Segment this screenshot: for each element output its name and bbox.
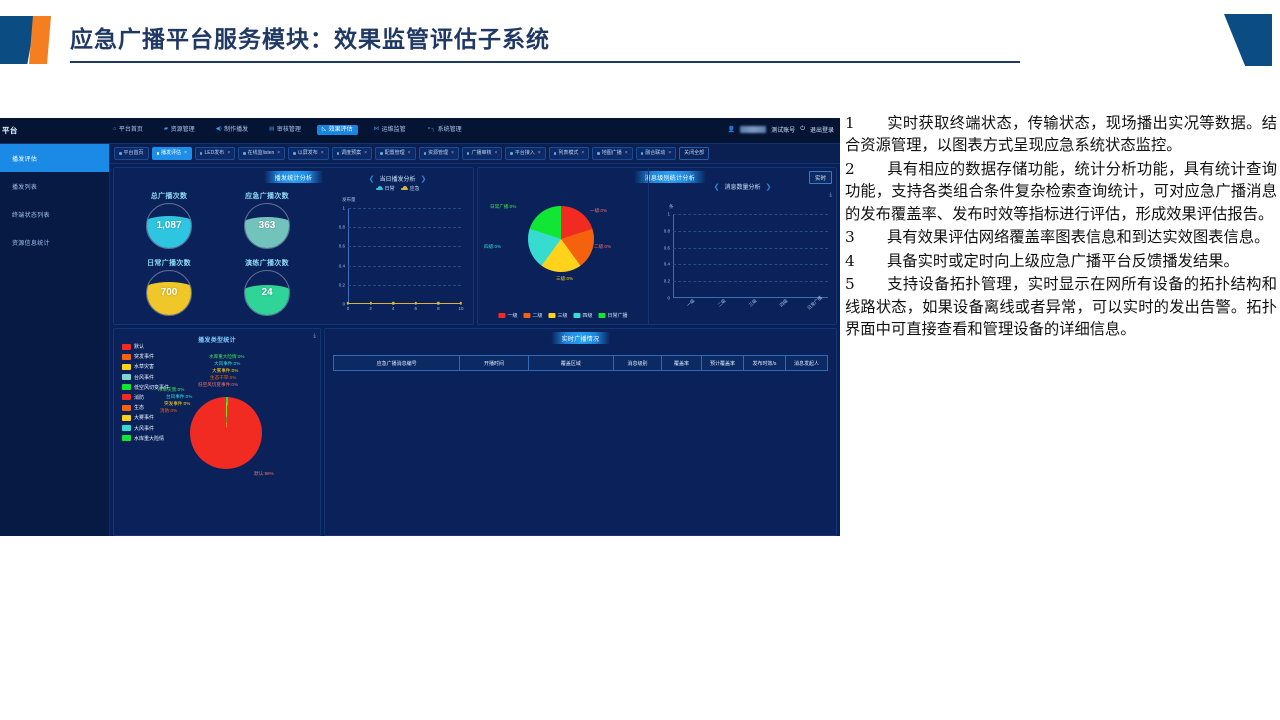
y-tick: 0.6 xyxy=(664,245,670,250)
tab-fusion-linkage[interactable]: 融合联动× xyxy=(636,147,676,160)
chevron-left-icon: ❮ xyxy=(369,175,375,183)
tab-dot-icon xyxy=(243,152,246,155)
top-navbar: 平台 ⌂平台首页 ▰资源管理 ◀)制作播发 ▤审核管理 ◺效果评估 ⋈运维监管 … xyxy=(0,118,840,144)
power-icon[interactable]: ⏻ xyxy=(800,126,805,133)
chevron-right-icon: ❯ xyxy=(421,175,427,183)
note-number: 4 xyxy=(845,250,887,272)
tab-config-manage[interactable]: 配置管理× xyxy=(375,147,415,160)
pie-label-emergency: 突发事件:0% xyxy=(164,401,190,407)
note-number: 2 xyxy=(845,158,887,180)
gauge-label: 日常广播次数 xyxy=(147,258,191,268)
nav-item-home[interactable]: ⌂平台首页 xyxy=(108,125,148,135)
legend-item-reservoir-danger[interactable]: 水库重大险情 xyxy=(122,435,169,442)
gauge-card-total: 总广播次数 1,087 xyxy=(120,186,218,253)
y-tick: 0.2 xyxy=(339,282,345,287)
tab-resource-manage[interactable]: 资源管理× xyxy=(419,147,459,160)
note-number: 5 xyxy=(845,273,887,295)
y-tick: 0.8 xyxy=(339,225,345,230)
home-icon: ⌂ xyxy=(113,127,116,133)
y-tick: 0.4 xyxy=(664,262,670,267)
panel-title: 播发类型统计 xyxy=(187,333,247,345)
gauge-label: 总广播次数 xyxy=(151,191,188,201)
content-row-bottom: 播发类型统计 ⤓ 默认 突发事件 水草灾害 台风事件 低空风切变事件 消防 生态… xyxy=(113,328,837,536)
series-emergency xyxy=(348,303,461,304)
tab-broadcast-evaluation[interactable]: 播发评估× xyxy=(152,147,192,160)
table-header-cell: 预计覆盖率 xyxy=(701,355,743,371)
pie-label-waterweed: 水草灾害:0% xyxy=(158,387,184,393)
legend-item-level2[interactable]: 二级 xyxy=(523,312,542,319)
nav-item-produce[interactable]: ◀)制作播发 xyxy=(211,125,254,135)
panel-message-level-statistics: 消息级别统计分析 实时 一级:0% 二级:0% 三级:0% 四级:0% 日常广播… xyxy=(477,167,837,325)
legend-item-wind-event[interactable]: 大风事件 xyxy=(122,425,169,432)
y-tick: 0.6 xyxy=(339,244,345,249)
sidebar-item-broadcast-list[interactable]: 播发列表 xyxy=(0,172,109,200)
note-item: 1实时获取终端状态，传输状态，现场播出实况等数据。结合资源管理，以图表方式呈现应… xyxy=(845,112,1277,157)
tab-home[interactable]: 平台首页 xyxy=(114,147,149,160)
user-area: 👤 测试账号 ⏻ 退出登录 xyxy=(728,125,834,134)
nav-label: 平台首页 xyxy=(119,127,143,133)
nav-label: 系统管理 xyxy=(438,127,462,133)
chart-message-level-pie: 一级:0% 二级:0% 三级:0% 四级:0% 日常广播:0% 一级 二级 三级… xyxy=(478,168,648,324)
user-icon: 👤 xyxy=(728,126,735,133)
folder-icon: ▰ xyxy=(164,127,168,133)
nav-item-evaluation[interactable]: ◺效果评估 xyxy=(317,125,358,135)
pie-label-level4: 四级:0% xyxy=(484,244,501,250)
panel-broadcast-statistics: 播发统计分析 总广播次数 1,087 应急广播次数 xyxy=(113,167,474,325)
x-tick: 4 xyxy=(392,306,395,311)
sidebar-item-resource-info-stats[interactable]: 资源信息统计 xyxy=(0,228,109,256)
legend-item-waterweed-disaster[interactable]: 水草灾害 xyxy=(122,363,169,370)
tab-dot-icon xyxy=(337,152,340,155)
realtime-broadcast-table: 应急广播消息编号 开播时间 覆盖区域 消息级别 覆盖率 预计覆盖率 发布时效/s… xyxy=(333,355,828,371)
plot-area-daily: 0 0.2 0.4 0.6 0.8 1 0 2 4 6 8 10 xyxy=(348,208,461,304)
key-icon: ⚬┐ xyxy=(427,127,436,133)
monitor-icon: ⋈ xyxy=(374,127,380,133)
pie-label-level2: 二级:0% xyxy=(594,244,611,250)
x-tick: 6 xyxy=(415,306,418,311)
pie-legend: 一级 二级 三级 四级 日常广播 xyxy=(498,312,627,319)
close-icon[interactable]: × xyxy=(581,151,584,156)
nav-item-operation[interactable]: ⋈运维监管 xyxy=(369,125,411,135)
sidebar-item-broadcast-evaluation[interactable]: 播发评估 xyxy=(0,144,109,172)
gauge-value: 24 xyxy=(261,287,272,298)
gauge-total-broadcasts: 1,087 xyxy=(146,203,192,249)
nav-item-system[interactable]: ⚬┐系统管理 xyxy=(422,125,467,135)
download-icon[interactable]: ⤓ xyxy=(829,192,832,199)
tab-strip: 平台首页 播发评估× LED发布× 在线监listen× 以屏发布× 调度预案×… xyxy=(110,144,840,164)
table-header-cell: 覆盖区域 xyxy=(528,355,613,371)
nav-label: 效果评估 xyxy=(329,127,353,133)
chart-legend: 日常 应急 xyxy=(375,185,419,192)
logout-button[interactable]: 退出登录 xyxy=(810,125,834,134)
x-tick: 三级 xyxy=(747,298,758,308)
chart-subtitle: ❮ 当日播发分析 ❯ xyxy=(369,174,427,183)
table-header-cell: 消息发起人 xyxy=(785,355,828,371)
tab-map-broadcast[interactable]: 地图广播× xyxy=(592,147,632,160)
gauge-daily-broadcasts: 700 xyxy=(146,270,192,316)
x-tick: 2 xyxy=(369,306,372,311)
tab-dot-icon xyxy=(119,152,122,155)
table-header-cell: 开播时间 xyxy=(459,355,528,371)
pie-label-daily: 日常广播:0% xyxy=(490,204,516,210)
x-axis xyxy=(673,297,828,298)
legend-item-level1[interactable]: 一级 xyxy=(498,312,517,319)
pie-wrapper: 一级:0% 二级:0% 三级:0% 四级:0% 日常广播:0% 一级 二级 三级… xyxy=(478,168,648,324)
pie-label-fog: 大雾事件:0% xyxy=(212,368,238,374)
panel-title: 实时广播情况 xyxy=(551,332,611,344)
close-icon[interactable]: × xyxy=(408,151,411,156)
legend-item-level4[interactable]: 四级 xyxy=(574,312,593,319)
tab-dot-icon xyxy=(467,152,470,155)
nav-label: 制作播发 xyxy=(224,127,248,133)
y-tick: 0.4 xyxy=(339,263,345,268)
gauge-value: 700 xyxy=(161,287,178,298)
pie-label-typhoon: 台风事件:0% xyxy=(166,394,192,400)
pie-label-level3: 三级:0% xyxy=(556,276,573,282)
note-item: 5支持设备拓扑管理，实时显示在网所有设备的拓扑结构和线路状态，如果设备离线或者异… xyxy=(845,273,1277,340)
legend-item-daily[interactable]: 日常 xyxy=(375,185,394,192)
y-axis xyxy=(348,208,349,304)
tab-screen-publish[interactable]: 以屏发布× xyxy=(288,147,328,160)
gauge-grid: 总广播次数 1,087 应急广播次数 363 xyxy=(114,168,322,324)
y-tick: 1 xyxy=(342,206,345,211)
close-icon[interactable]: × xyxy=(277,151,280,156)
slide-page: 应急广播平台服务模块：效果监管评估子系统 1实时获取终端状态，传输状态，现场播出… xyxy=(0,0,1280,720)
y-tick: 0 xyxy=(342,302,345,307)
y-axis-label: 发布量 xyxy=(342,197,356,203)
note-item: 3具有效果评估网络覆盖率图表信息和到达实效图表信息。 xyxy=(845,226,1277,248)
y-tick: 1 xyxy=(667,212,670,217)
close-icon[interactable]: × xyxy=(227,151,230,156)
gauge-card-emergency: 应急广播次数 363 xyxy=(218,186,316,253)
table-header-cell: 应急广播消息编号 xyxy=(333,355,459,371)
account-label: 测试账号 xyxy=(771,125,795,134)
y-tick: 0 xyxy=(667,296,670,301)
chart-daily-broadcast: ❮ 当日播发分析 ❯ 日常 应急 发布量 xyxy=(322,168,473,324)
x-tick: 二级 xyxy=(716,298,727,308)
panel-broadcast-type-statistics: 播发类型统计 ⤓ 默认 突发事件 水草灾害 台风事件 低空风切变事件 消防 生态… xyxy=(113,328,321,536)
tab-dot-icon xyxy=(641,152,644,155)
chart-icon: ◺ xyxy=(322,127,326,133)
speaker-icon: ◀) xyxy=(216,127,222,133)
tab-dispatch-plan[interactable]: 调度预案× xyxy=(332,147,372,160)
note-text: 具有相应的数据存储功能，统计分析功能，具有统计查询功能，支持各类组合条件复杂检索… xyxy=(845,160,1277,223)
note-item: 2具有相应的数据存储功能，统计分析功能，具有统计查询功能，支持各类组合条件复杂检… xyxy=(845,158,1277,225)
note-text: 支持设备拓扑管理，实时显示在网所有设备的拓扑结构和线路状态，如果设备离线或者异常… xyxy=(845,275,1277,338)
note-item: 4具备实时或定时向上级应急广播平台反馈播发结果。 xyxy=(845,250,1277,272)
tab-close-all-button[interactable]: 关闭全部 xyxy=(679,147,709,160)
tab-list-mode[interactable]: 列表模式× xyxy=(549,147,589,160)
nav-label: 审核管理 xyxy=(277,127,301,133)
gauge-card-drill: 演练广播次数 24 xyxy=(218,253,316,320)
legend-item-typhoon-event[interactable]: 台风事件 xyxy=(122,374,169,381)
gauge-value: 363 xyxy=(259,220,276,231)
pie-label-default: 默认:99% xyxy=(254,471,274,477)
close-icon[interactable]: × xyxy=(321,151,324,156)
x-tick: 10 xyxy=(458,306,463,311)
legend-item-default[interactable]: 默认 xyxy=(122,343,169,350)
close-icon[interactable]: × xyxy=(668,151,671,156)
chevron-left-icon: ❮ xyxy=(714,183,720,191)
tab-platform-access[interactable]: 平台接入× xyxy=(505,147,545,160)
tab-online-monitor[interactable]: 在线监listen× xyxy=(238,147,285,160)
note-text: 实时获取终端状态，传输状态，现场播出实况等数据。结合资源管理，以图表方式呈现应急… xyxy=(845,114,1277,154)
pie-label-reservoir: 水库重大险情:0% xyxy=(209,354,244,360)
note-text: 具有效果评估网络覆盖率图表信息和到达实效图表信息。 xyxy=(887,228,1269,246)
close-icon[interactable]: × xyxy=(451,151,454,156)
pie-label-wind: 大风事件:0% xyxy=(214,361,240,367)
x-tick: 四级 xyxy=(778,298,789,308)
header-rule xyxy=(70,61,1020,63)
nav-label: 运维监管 xyxy=(382,127,406,133)
close-icon[interactable]: × xyxy=(364,151,367,156)
chart-message-count: ❮ 消息数量分析 ❯ ⤓ 条 0 0. xyxy=(648,168,836,324)
gauge-label: 应急广播次数 xyxy=(245,191,289,201)
gauge-drill-broadcasts: 24 xyxy=(244,270,290,316)
tab-broadcast-audit[interactable]: 广播审核× xyxy=(462,147,502,160)
y-tick: 0.2 xyxy=(664,279,670,284)
tab-dot-icon xyxy=(380,152,383,155)
pie-label-fire: 消防:0% xyxy=(160,408,177,414)
tab-dot-icon xyxy=(293,152,296,155)
legend-item-level3[interactable]: 三级 xyxy=(548,312,567,319)
document-icon: ▤ xyxy=(269,127,274,133)
legend-item-emergency[interactable]: 应急 xyxy=(401,185,420,192)
gauge-value: 1,087 xyxy=(156,220,181,231)
nav-label: 资源管理 xyxy=(171,127,195,133)
y-axis-label: 条 xyxy=(669,204,674,210)
pie-label-ecology: 生态干旱:0% xyxy=(210,375,236,381)
table-header-cell: 覆盖率 xyxy=(661,355,701,371)
close-icon[interactable]: × xyxy=(494,151,497,156)
nav-item-resource[interactable]: ▰资源管理 xyxy=(159,125,200,135)
pie-chart xyxy=(528,206,594,272)
platform-logo: 平台 xyxy=(2,125,18,136)
x-tick: 8 xyxy=(437,306,440,311)
x-tick: 0 xyxy=(347,306,350,311)
nav-item-audit[interactable]: ▤审核管理 xyxy=(264,125,306,135)
close-icon[interactable]: × xyxy=(625,151,628,156)
note-number: 1 xyxy=(845,112,887,134)
page-title: 应急广播平台服务模块：效果监管评估子系统 xyxy=(70,20,550,54)
close-icon[interactable]: × xyxy=(538,151,541,156)
y-axis xyxy=(673,214,674,298)
feature-notes: 1实时获取终端状态，传输状态，现场播出实况等数据。结合资源管理，以图表方式呈现应… xyxy=(845,112,1277,342)
content-row-top: 播发统计分析 总广播次数 1,087 应急广播次数 xyxy=(113,167,837,325)
main-content: 播发统计分析 总广播次数 1,087 应急广播次数 xyxy=(110,164,840,536)
table-header-cell: 消息级别 xyxy=(613,355,661,371)
legend-item-fog-event[interactable]: 大雾事件 xyxy=(122,414,169,421)
download-icon[interactable]: ⤓ xyxy=(313,333,316,340)
table-header-cell: 发布时效/s xyxy=(743,355,785,371)
pie-label-windshear: 低空风切变事件:0% xyxy=(198,382,238,388)
tab-dot-icon xyxy=(424,152,427,155)
chart-subtitle: ❮ 消息数量分析 ❯ xyxy=(714,182,772,191)
header-accent-corner xyxy=(1224,14,1272,66)
x-tick: 一级 xyxy=(685,298,696,308)
pie-label-level1: 一级:0% xyxy=(590,208,607,214)
tab-led-publish[interactable]: LED发布× xyxy=(195,147,235,160)
tab-dot-icon xyxy=(597,152,600,155)
tab-dot-icon xyxy=(554,152,557,155)
tab-dot-icon xyxy=(200,152,203,155)
main-menu: ⌂平台首页 ▰资源管理 ◀)制作播发 ▤审核管理 ◺效果评估 ⋈运维监管 ⚬┐系… xyxy=(108,125,467,135)
note-text: 具备实时或定时向上级应急广播平台反馈播发结果。 xyxy=(887,252,1239,270)
close-icon[interactable]: × xyxy=(184,151,187,156)
chevron-right-icon: ❯ xyxy=(766,183,772,191)
legend-item-emergency-event[interactable]: 突发事件 xyxy=(122,353,169,360)
y-tick: 0.8 xyxy=(664,228,670,233)
sidebar: 播发评估 播发列表 终端状态列表 资源信息统计 xyxy=(0,144,110,536)
tab-dot-icon xyxy=(510,152,513,155)
sidebar-item-terminal-status-list[interactable]: 终端状态列表 xyxy=(0,200,109,228)
tab-dot-icon xyxy=(157,152,160,155)
legend-item-fire[interactable]: 消防 xyxy=(122,394,169,401)
pie-chart-broadcast-type xyxy=(190,397,262,469)
dashboard-screenshot: 平台 ⌂平台首页 ▰资源管理 ◀)制作播发 ▤审核管理 ◺效果评估 ⋈运维监管 … xyxy=(0,118,840,536)
legend-item-daily[interactable]: 日常广播 xyxy=(599,312,628,319)
panel-realtime-broadcast: 实时广播情况 应急广播消息编号 开播时间 覆盖区域 消息级别 覆盖率 预计覆盖率… xyxy=(324,328,837,536)
gauge-label: 演练广播次数 xyxy=(245,258,289,268)
gauge-emergency-broadcasts: 363 xyxy=(244,203,290,249)
plot-area-bar: 0 0.2 0.4 0.6 0.8 1 一级 二级 三级 四级 日常广播 xyxy=(673,214,828,298)
gauge-card-daily: 日常广播次数 700 xyxy=(120,253,218,320)
note-number: 3 xyxy=(845,226,887,248)
panel-title: 播发统计分析 xyxy=(264,171,324,183)
account-name-redacted xyxy=(740,126,766,133)
